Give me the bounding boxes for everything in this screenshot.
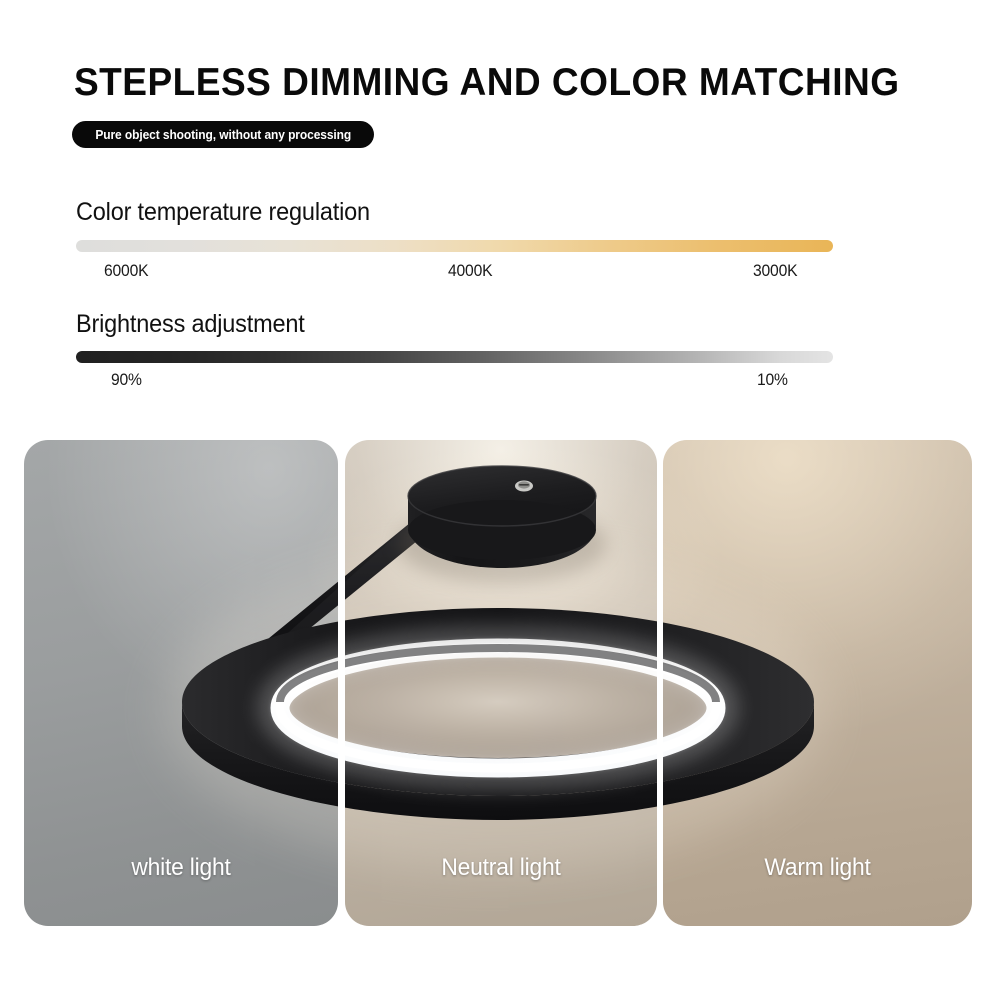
color-temperature-tick-3000k: 3000K (753, 262, 797, 281)
brightness-slider[interactable] (76, 351, 833, 363)
brightness-heading: Brightness adjustment (76, 310, 305, 339)
status-badge-label: Pure object shooting, without any proces… (95, 128, 351, 142)
status-badge: Pure object shooting, without any proces… (72, 121, 374, 148)
page-title: STEPLESS DIMMING AND COLOR MATCHING (74, 60, 910, 106)
product-photo-strip: white light Neutral light Warm light (24, 440, 972, 926)
color-temperature-slider[interactable] (76, 240, 833, 252)
panel-caption-warm-light: Warm light (671, 854, 965, 882)
color-temperature-heading: Color temperature regulation (76, 198, 370, 227)
panel-caption-white-light: white light (32, 854, 330, 882)
panel-caption-neutral-light: Neutral light (353, 854, 649, 882)
photo-panel-white-light: white light (24, 440, 338, 926)
color-temperature-tick-4000k: 4000K (448, 262, 492, 281)
infographic-page: STEPLESS DIMMING AND COLOR MATCHING Pure… (0, 0, 1000, 1000)
brightness-tick-10: 10% (757, 371, 788, 390)
brightness-tick-90: 90% (111, 371, 142, 390)
photo-panel-neutral-light: Neutral light (345, 440, 657, 926)
photo-panel-warm-light: Warm light (663, 440, 972, 926)
color-temperature-tick-6000k: 6000K (104, 262, 148, 281)
